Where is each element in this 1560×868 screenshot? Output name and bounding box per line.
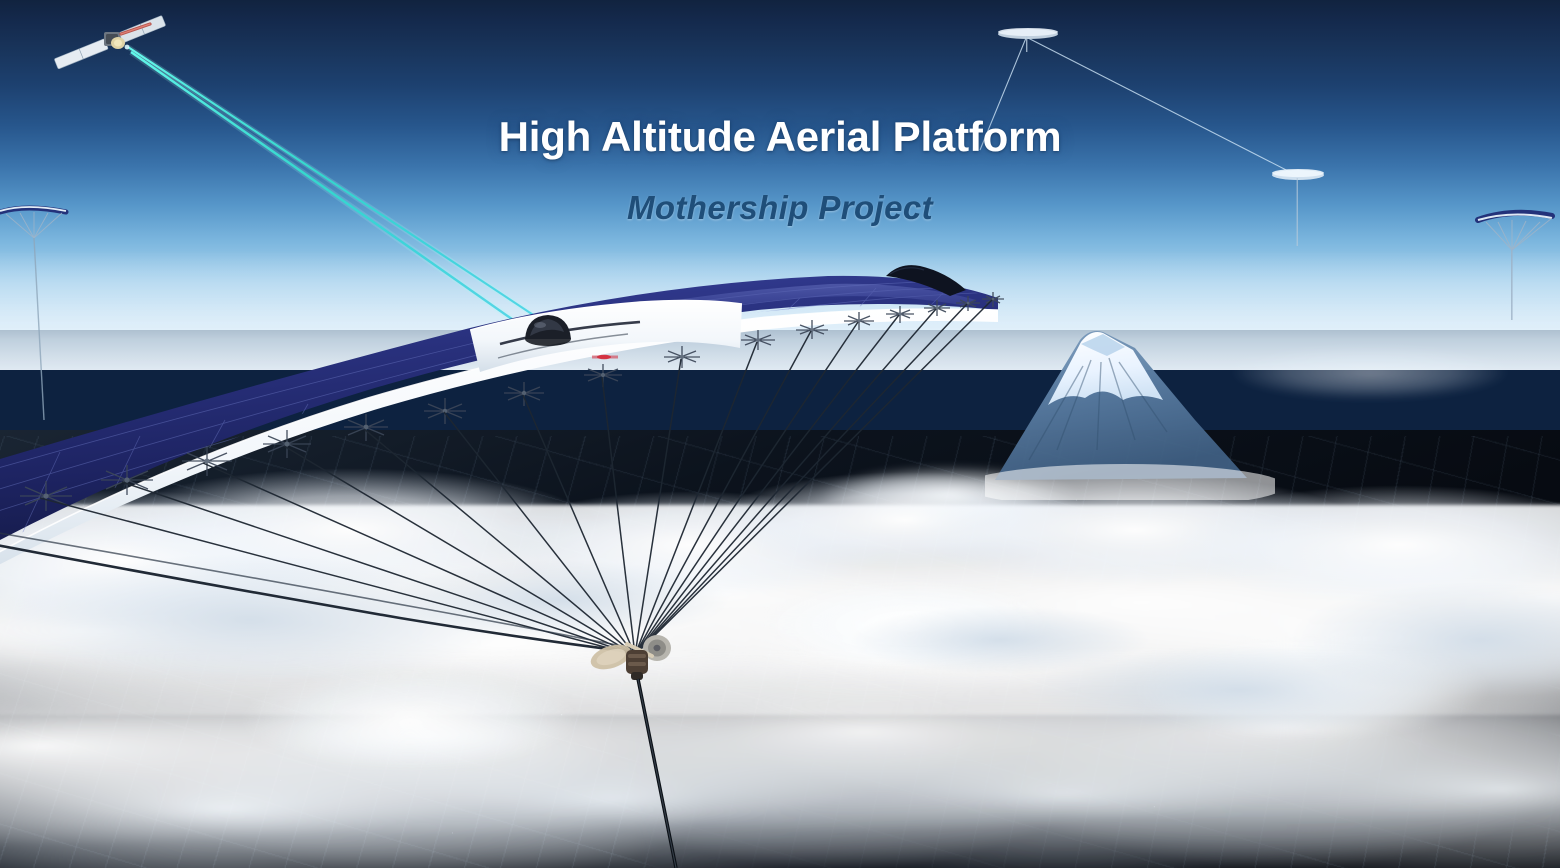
concept-artwork-scene: High Altitude Aerial Platform Mothership…	[0, 0, 1560, 868]
wing-logo	[592, 355, 618, 360]
sky-gradient	[0, 0, 1560, 330]
cloud-patch	[1230, 345, 1510, 400]
fuji-snow-cap	[1048, 332, 1163, 405]
fuji-crater	[1081, 334, 1125, 356]
propeller	[584, 364, 622, 387]
propeller	[664, 346, 700, 368]
headline-block: High Altitude Aerial Platform	[0, 113, 1560, 161]
propeller	[741, 330, 775, 350]
page-subtitle: Mothership Project	[0, 189, 1560, 227]
propeller	[424, 398, 466, 424]
propeller	[504, 382, 544, 406]
page-title: High Altitude Aerial Platform	[0, 113, 1560, 161]
